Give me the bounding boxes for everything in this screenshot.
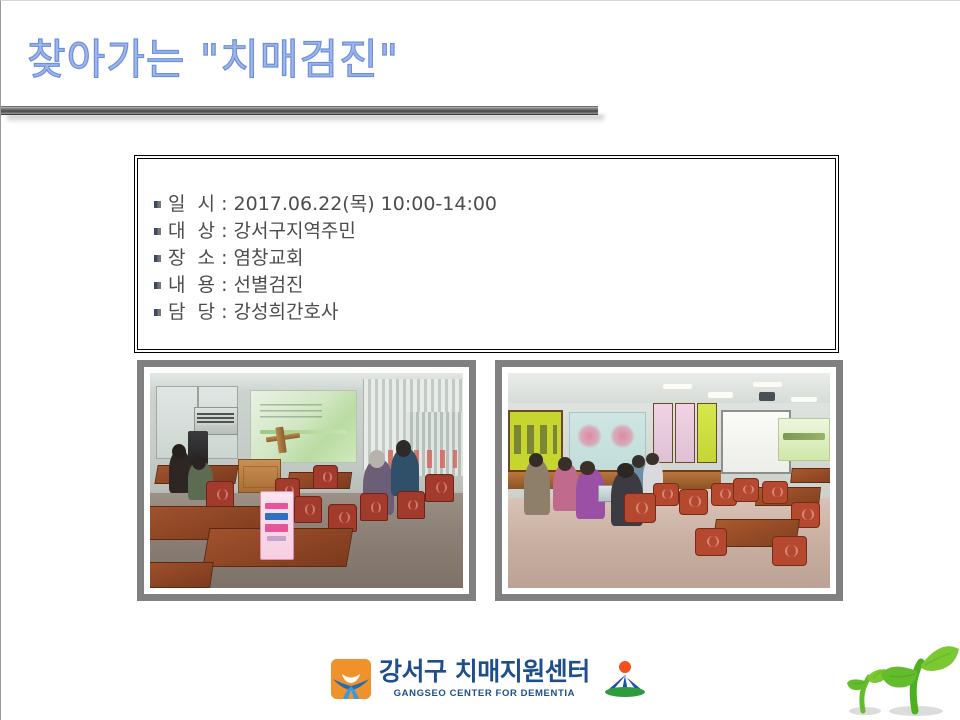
event-info-box: 일 시 : 2017.06.22(목) 10:00-14:00 대 상 : 강서… <box>137 158 836 350</box>
square-bullet-icon <box>154 309 161 316</box>
presentation-slide: 찾아가는 "치매검진" 일 시 : 2017.06.22(목) 10:00-14… <box>0 0 960 720</box>
gangseo-gu-emblem-icon <box>602 659 648 699</box>
info-audience-line: 대 상 : 강서구지역주민 <box>168 219 356 244</box>
logo-korean-name: 강서구 치매지원센터 <box>379 659 590 685</box>
memory-screening-banner <box>778 418 830 461</box>
info-content-line: 내 용 : 선별검진 <box>168 273 303 298</box>
square-bullet-icon <box>154 282 161 289</box>
list-item: 내 용 : 선별검진 <box>154 273 497 298</box>
square-bullet-icon <box>154 255 161 262</box>
list-item: 대 상 : 강서구지역주민 <box>154 219 497 244</box>
page-title: 찾아가는 "치매검진" <box>27 37 399 83</box>
photo-mat <box>502 367 836 594</box>
organization-logo: 강서구 치매지원센터 GANGSEO CENTER FOR DEMENTIA <box>331 653 651 705</box>
logo-english-name: GANGSEO CENTER FOR DEMENTIA <box>379 688 590 699</box>
classroom-session-photo <box>495 360 843 601</box>
photo-mat <box>144 367 469 594</box>
free-screening-banner <box>260 491 294 560</box>
slide-title-container: 찾아가는 "치매검진" <box>27 29 587 91</box>
photo-image <box>508 373 830 588</box>
info-location-line: 장 소 : 염창교회 <box>168 246 303 271</box>
list-item: 담 당 : 강성희간호사 <box>154 300 497 325</box>
sprout-decoration-icon <box>839 619 960 717</box>
square-bullet-icon <box>154 228 161 235</box>
event-info-list: 일 시 : 2017.06.22(목) 10:00-14:00 대 상 : 강서… <box>154 192 497 327</box>
title-divider-shadow <box>7 115 604 122</box>
logo-text-block: 강서구 치매지원센터 GANGSEO CENTER FOR DEMENTIA <box>379 659 590 698</box>
church-meeting-room-photo <box>137 360 476 601</box>
dementia-center-mark-icon <box>331 659 371 699</box>
square-bullet-icon <box>154 201 161 208</box>
info-staff-line: 담 당 : 강성희간호사 <box>168 300 338 325</box>
list-item: 장 소 : 염창교회 <box>154 246 497 271</box>
title-divider-bar <box>1 106 598 115</box>
photo-image <box>150 373 463 588</box>
list-item: 일 시 : 2017.06.22(목) 10:00-14:00 <box>154 192 497 217</box>
info-date-line: 일 시 : 2017.06.22(목) 10:00-14:00 <box>168 192 497 217</box>
